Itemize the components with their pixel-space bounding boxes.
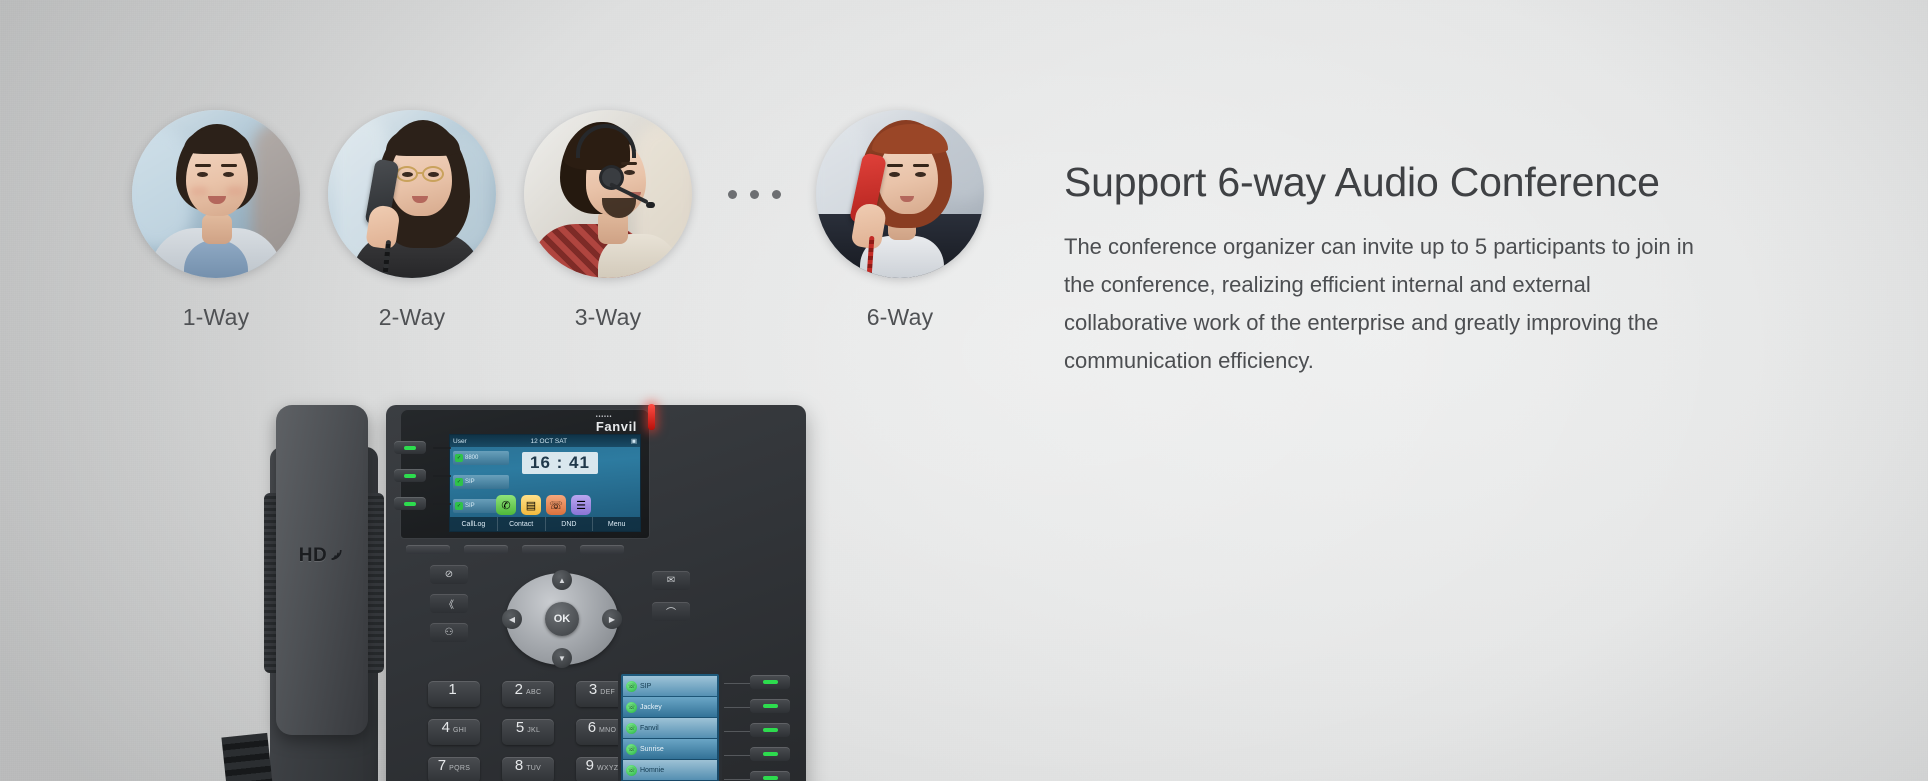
dss-entry[interactable]: ☏Sunrise: [623, 739, 717, 759]
dss-label: Sunrise: [640, 746, 664, 753]
sip-registered-icon: ✓: [455, 478, 463, 486]
line-key-led: [404, 474, 416, 478]
key-8[interactable]: 8TUV: [502, 757, 554, 781]
ellipsis-dot: [772, 190, 781, 199]
participant-label: 1-Way: [183, 304, 250, 331]
dss-entry[interactable]: ☏Jackey: [623, 697, 717, 717]
softkey-dnd[interactable]: DND: [546, 517, 594, 531]
key-letters: PQRS: [449, 765, 470, 772]
dss-entry[interactable]: ☏Homnie: [623, 760, 717, 780]
dss-key-buttons: [750, 675, 790, 781]
softkey-menu[interactable]: Menu: [593, 517, 640, 531]
dialer-icon[interactable]: ✆: [496, 495, 516, 515]
avatar: [328, 110, 496, 278]
dss-label: Fanvil: [640, 725, 659, 732]
key-number: 5: [516, 719, 524, 736]
key-7[interactable]: 7PQRS: [428, 757, 480, 781]
participant-6: 6-Way: [802, 110, 998, 331]
line-key-1[interactable]: ✓ 8800: [453, 451, 509, 465]
hardware-softkey-1[interactable]: [406, 545, 450, 554]
key-5[interactable]: 5JKL: [502, 719, 554, 745]
key-number: 4: [442, 719, 450, 736]
contact-online-icon: ☏: [626, 681, 637, 692]
body-paragraph: The conference organizer can invite up t…: [1064, 228, 1712, 380]
dss-key-button[interactable]: [750, 699, 790, 713]
ellipsis-dot: [750, 190, 759, 199]
dss-entry[interactable]: ☏Fanvil: [623, 718, 717, 738]
participant-label: 6-Way: [867, 304, 934, 331]
hardware-softkey-row: [406, 545, 624, 554]
hd-audio-waves-icon: [329, 546, 345, 562]
dss-entry[interactable]: ☏SIP: [623, 676, 717, 696]
dss-label: SIP: [640, 683, 651, 690]
key-number: 8: [515, 757, 523, 774]
dss-key-led: [763, 752, 778, 756]
key-number: 3: [589, 681, 597, 698]
physical-line-key-3[interactable]: [394, 497, 451, 510]
ellipsis-indicator: [706, 110, 802, 278]
dss-key-button[interactable]: [750, 747, 790, 761]
navigation-cluster: ▲ ▼ ◀ ▶ OK: [506, 573, 618, 665]
nav-down-icon[interactable]: ▼: [552, 648, 572, 668]
headset-icon[interactable]: ⌒: [652, 602, 690, 621]
line-key-label: SIP: [465, 479, 475, 485]
key-number: 7: [438, 757, 446, 774]
dss-key-module: ☏SIP ☏Jackey ☏Fanvil ☏Sunrise ☏Homnie ☏F…: [618, 671, 790, 781]
line-key-label-strip: [433, 447, 451, 449]
dss-key-button[interactable]: [750, 771, 790, 781]
page-title: Support 6-way Audio Conference: [1064, 160, 1744, 206]
softkey-contact[interactable]: Contact: [498, 517, 546, 531]
contacts-icon[interactable]: ☏: [546, 495, 566, 515]
key-4[interactable]: 4GHI: [428, 719, 480, 745]
physical-line-key-2[interactable]: [394, 469, 451, 482]
line-key-label: SIP: [465, 503, 475, 509]
handset-cord: [221, 733, 276, 781]
contact-online-icon: ☏: [626, 744, 637, 755]
key-letters: WXYZ: [597, 765, 618, 772]
hd-audio-badge: HD: [299, 545, 345, 567]
mute-icon[interactable]: ⊘: [430, 565, 468, 584]
marketing-copy: Support 6-way Audio Conference The confe…: [1064, 160, 1744, 380]
key-number: 1: [448, 681, 456, 698]
key-letters: MNO: [599, 727, 616, 734]
contact-online-icon: ☏: [626, 765, 637, 776]
brand-name: Fanvil: [596, 419, 637, 434]
fanvil-ip-phone: HD •••••• Fanvil User 12 OCT SAT ▣: [250, 405, 810, 781]
dss-key-led: [763, 776, 778, 780]
line-key-button[interactable]: [394, 441, 426, 454]
contact-online-icon: ☏: [626, 723, 637, 734]
avatar: [816, 110, 984, 278]
dss-key-led: [763, 680, 778, 684]
line-key-button[interactable]: [394, 497, 426, 510]
network-icon: ▣: [631, 437, 637, 445]
hardware-softkey-2[interactable]: [464, 545, 508, 554]
nav-up-icon[interactable]: ▲: [552, 570, 572, 590]
hardware-softkey-3[interactable]: [522, 545, 566, 554]
key-number: 9: [586, 757, 594, 774]
hardware-softkey-4[interactable]: [580, 545, 624, 554]
line-key-led: [404, 502, 416, 506]
lcd-status-bar: User 12 OCT SAT ▣: [450, 435, 640, 447]
status-date: 12 OCT SAT: [530, 438, 567, 445]
contact-online-icon: ☏: [626, 702, 637, 713]
ok-button[interactable]: OK: [545, 602, 579, 636]
nav-left-icon[interactable]: ◀: [502, 609, 522, 629]
ellipsis-dot: [728, 190, 737, 199]
line-key-label-strip: [433, 503, 451, 505]
softkey-calllog[interactable]: CallLog: [450, 517, 498, 531]
participant-3: 3-Way: [510, 110, 706, 331]
key-letters: GHI: [453, 727, 466, 734]
line-key-label: 8800: [465, 455, 478, 461]
hold-icon[interactable]: 《: [430, 594, 468, 613]
lcd-softkey-bar: CallLog Contact DND Menu: [450, 517, 640, 531]
line-key-button[interactable]: [394, 469, 426, 482]
nav-right-icon[interactable]: ▶: [602, 609, 622, 629]
participant-label: 3-Way: [575, 304, 642, 331]
dss-key-led: [763, 728, 778, 732]
brand-logo: •••••• Fanvil: [596, 415, 637, 434]
dss-screen: ☏SIP ☏Jackey ☏Fanvil ☏Sunrise ☏Homnie ☏F…: [618, 671, 722, 781]
participant-2: 2-Way: [314, 110, 510, 331]
key-letters: JKL: [527, 727, 540, 734]
function-keys-right: ✉ ⌒: [652, 571, 690, 621]
status-user-label: User: [453, 438, 467, 445]
dss-label: Jackey: [640, 704, 662, 711]
dial-keypad: 1 2ABC 3DEF 4GHI 5JKL 6MNO 7PQRS 8TUV 9W…: [428, 681, 628, 781]
dss-key-led: [763, 704, 778, 708]
phone-handset[interactable]: HD: [276, 405, 368, 735]
key-letters: DEF: [600, 689, 615, 696]
participant-1: 1-Way: [118, 110, 314, 331]
message-waiting-led: [648, 404, 655, 430]
function-keys-left: ⊘ 《 ⚇: [430, 565, 468, 642]
physical-line-key-1[interactable]: [394, 441, 451, 454]
dss-key-button[interactable]: [750, 723, 790, 737]
line-key-led: [404, 446, 416, 450]
key-letters: TUV: [526, 765, 541, 772]
phone-lcd-screen[interactable]: User 12 OCT SAT ▣ 16 : 41 ✓ 8800 ✓ SIP ✓…: [449, 434, 641, 532]
phone-base: •••••• Fanvil User 12 OCT SAT ▣ 16 : 41 …: [386, 405, 806, 781]
sip-registered-icon: ✓: [455, 454, 463, 462]
dss-label: Homnie: [640, 767, 664, 774]
notes-icon[interactable]: ▤: [521, 495, 541, 515]
conference-participants-row: 1-Way 2-Way: [118, 110, 998, 331]
dss-key-button[interactable]: [750, 675, 790, 689]
key-2[interactable]: 2ABC: [502, 681, 554, 707]
key-number: 2: [515, 681, 523, 698]
hd-label: HD: [299, 545, 327, 567]
participant-label: 2-Way: [379, 304, 446, 331]
lcd-app-bar: ✆ ▤ ☏ ☰: [496, 495, 591, 515]
line-key-label-strip: [433, 475, 451, 477]
avatar: [132, 110, 300, 278]
voicemail-icon[interactable]: ✉: [652, 571, 690, 590]
key-letters: ABC: [526, 689, 541, 696]
line-key-2[interactable]: ✓ SIP: [453, 475, 509, 489]
sip-registered-icon: ✓: [455, 502, 463, 510]
conference-icon[interactable]: ⚇: [430, 623, 468, 642]
lcd-clock: 16 : 41: [522, 452, 598, 474]
key-number: 6: [588, 719, 596, 736]
key-1[interactable]: 1: [428, 681, 480, 707]
settings-icon[interactable]: ☰: [571, 495, 591, 515]
avatar: [524, 110, 692, 278]
